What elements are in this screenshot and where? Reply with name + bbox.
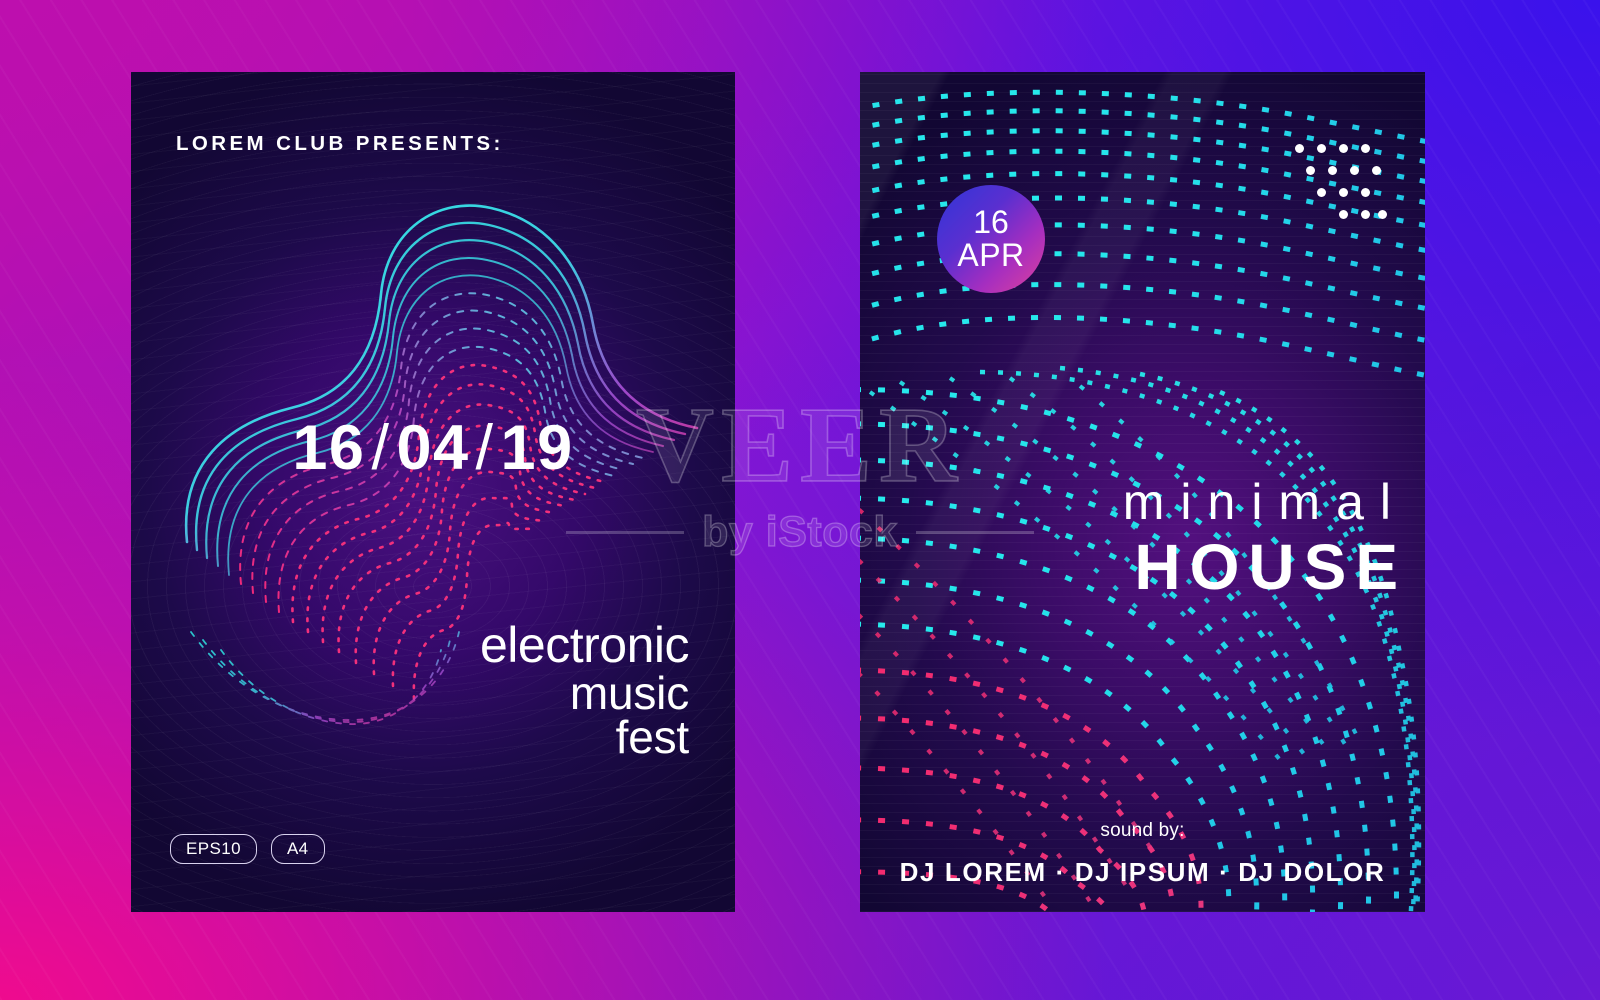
left-poster-title: electronic music fest bbox=[480, 622, 689, 759]
left-poster-title-line-2: music bbox=[480, 672, 689, 714]
date-year: 19 bbox=[501, 413, 574, 483]
right-poster-title: minimal HOUSE bbox=[860, 477, 1407, 599]
right-poster-sound-by-label: sound by: bbox=[860, 820, 1425, 842]
badge-eps10: EPS10 bbox=[170, 834, 257, 864]
left-poster-fluid-wave-graphic bbox=[131, 72, 735, 912]
poster-right-minimal-house: 16 APR minimal HOUSE sound by: DJ LOREM … bbox=[860, 72, 1425, 912]
left-poster-title-line-1: electronic bbox=[480, 622, 689, 668]
left-poster-date: 16/04/19 bbox=[171, 412, 695, 484]
date-month: 04 bbox=[396, 413, 469, 483]
right-poster-title-line-2: HOUSE bbox=[860, 535, 1407, 599]
poster-artwork-canvas: LOREM CLUB PRESENTS: 16/04/19 electronic… bbox=[0, 0, 1600, 1000]
date-separator-2: / bbox=[470, 413, 501, 483]
decorative-dot-grid bbox=[1295, 144, 1387, 218]
circle-badge-month: APR bbox=[957, 239, 1024, 272]
right-poster-lineup: DJ LOREM · DJ IPSUM · DJ DOLOR bbox=[860, 857, 1425, 888]
date-day: 16 bbox=[292, 413, 365, 483]
badge-a4: A4 bbox=[271, 834, 325, 864]
date-separator-1: / bbox=[365, 413, 396, 483]
right-poster-title-line-1: minimal bbox=[860, 477, 1407, 527]
left-poster-badges: EPS10 A4 bbox=[170, 834, 325, 864]
left-poster-presents-label: LOREM CLUB PRESENTS: bbox=[176, 132, 504, 156]
poster-left-electronic-music-fest: LOREM CLUB PRESENTS: 16/04/19 electronic… bbox=[131, 72, 735, 912]
left-poster-title-line-3: fest bbox=[480, 716, 689, 758]
right-poster-date-circle-badge: 16 APR bbox=[937, 185, 1045, 293]
circle-badge-day: 16 bbox=[973, 206, 1009, 239]
